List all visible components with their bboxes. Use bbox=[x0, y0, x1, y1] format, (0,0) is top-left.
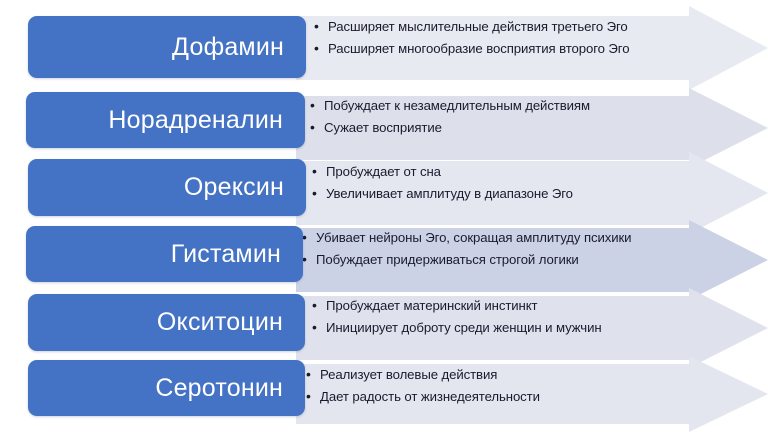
list-item: Увеличивает амплитуду в диапазоне Эго bbox=[312, 187, 573, 200]
list-item: Сужает восприятие bbox=[310, 121, 590, 134]
arrow-shape-container: Реализует волевые действия Дает радость … bbox=[296, 356, 768, 432]
neurotransmitter-arrow-diagram: Расширяет мыслительные действия третьего… bbox=[0, 0, 768, 432]
diagram-row: Реализует волевые действия Дает радость … bbox=[0, 354, 768, 432]
arrow-shape-container: Расширяет мыслительные действия третьего… bbox=[296, 6, 768, 90]
diagram-row: Расширяет мыслительные действия третьего… bbox=[0, 0, 768, 100]
label-pill-oreksin[interactable]: Орексин bbox=[28, 159, 306, 216]
label-pill-text: Дофамин bbox=[172, 33, 284, 62]
list-item: Реализует волевые действия bbox=[306, 368, 540, 381]
label-pill-text: Орексин bbox=[184, 173, 284, 202]
arrow-bullet-list: Побуждает к незамедлительным действиям С… bbox=[310, 99, 590, 134]
arrow-bullet-list: Расширяет мыслительные действия третьего… bbox=[314, 20, 629, 55]
arrow-bullet-list: Пробуждает от сна Увеличивает амплитуду … bbox=[312, 165, 573, 200]
label-pill-noradrenalin[interactable]: Норадреналин bbox=[26, 92, 305, 148]
list-item: Побуждает к незамедлительным действиям bbox=[310, 99, 590, 112]
arrow-bullet-list: Реализует волевые действия Дает радость … bbox=[306, 368, 540, 403]
label-pill-text: Гистамин bbox=[171, 240, 281, 269]
list-item: Побуждает придерживаться строгой логики bbox=[302, 253, 631, 266]
list-item: Пробуждает материнский инстинкт bbox=[312, 299, 602, 312]
label-pill-text: Норадреналин bbox=[108, 106, 283, 135]
arrow-bullet-list: Убивает нейроны Эго, сокращая амплитуду … bbox=[302, 231, 631, 266]
list-item: Дает радость от жизнедеятельности bbox=[306, 390, 540, 403]
label-pill-oksitotsin[interactable]: Окситоцин bbox=[28, 294, 305, 351]
label-pill-serotonin[interactable]: Серотонин bbox=[28, 360, 305, 416]
label-pill-gistamin[interactable]: Гистамин bbox=[26, 226, 303, 282]
list-item: Расширяет многообразие восприятия второг… bbox=[314, 42, 629, 55]
label-pill-text: Окситоцин bbox=[157, 308, 283, 337]
list-item: Убивает нейроны Эго, сокращая амплитуду … bbox=[302, 231, 631, 244]
list-item: Расширяет мыслительные действия третьего… bbox=[314, 20, 629, 33]
list-item: Пробуждает от сна bbox=[312, 165, 573, 178]
label-pill-dofamin[interactable]: Дофамин bbox=[28, 16, 306, 78]
label-pill-text: Серотонин bbox=[155, 374, 283, 403]
list-item: Инициирует доброту среди женщин и мужчин bbox=[312, 321, 602, 334]
arrow-bullet-list: Пробуждает материнский инстинкт Иницииру… bbox=[312, 299, 602, 334]
